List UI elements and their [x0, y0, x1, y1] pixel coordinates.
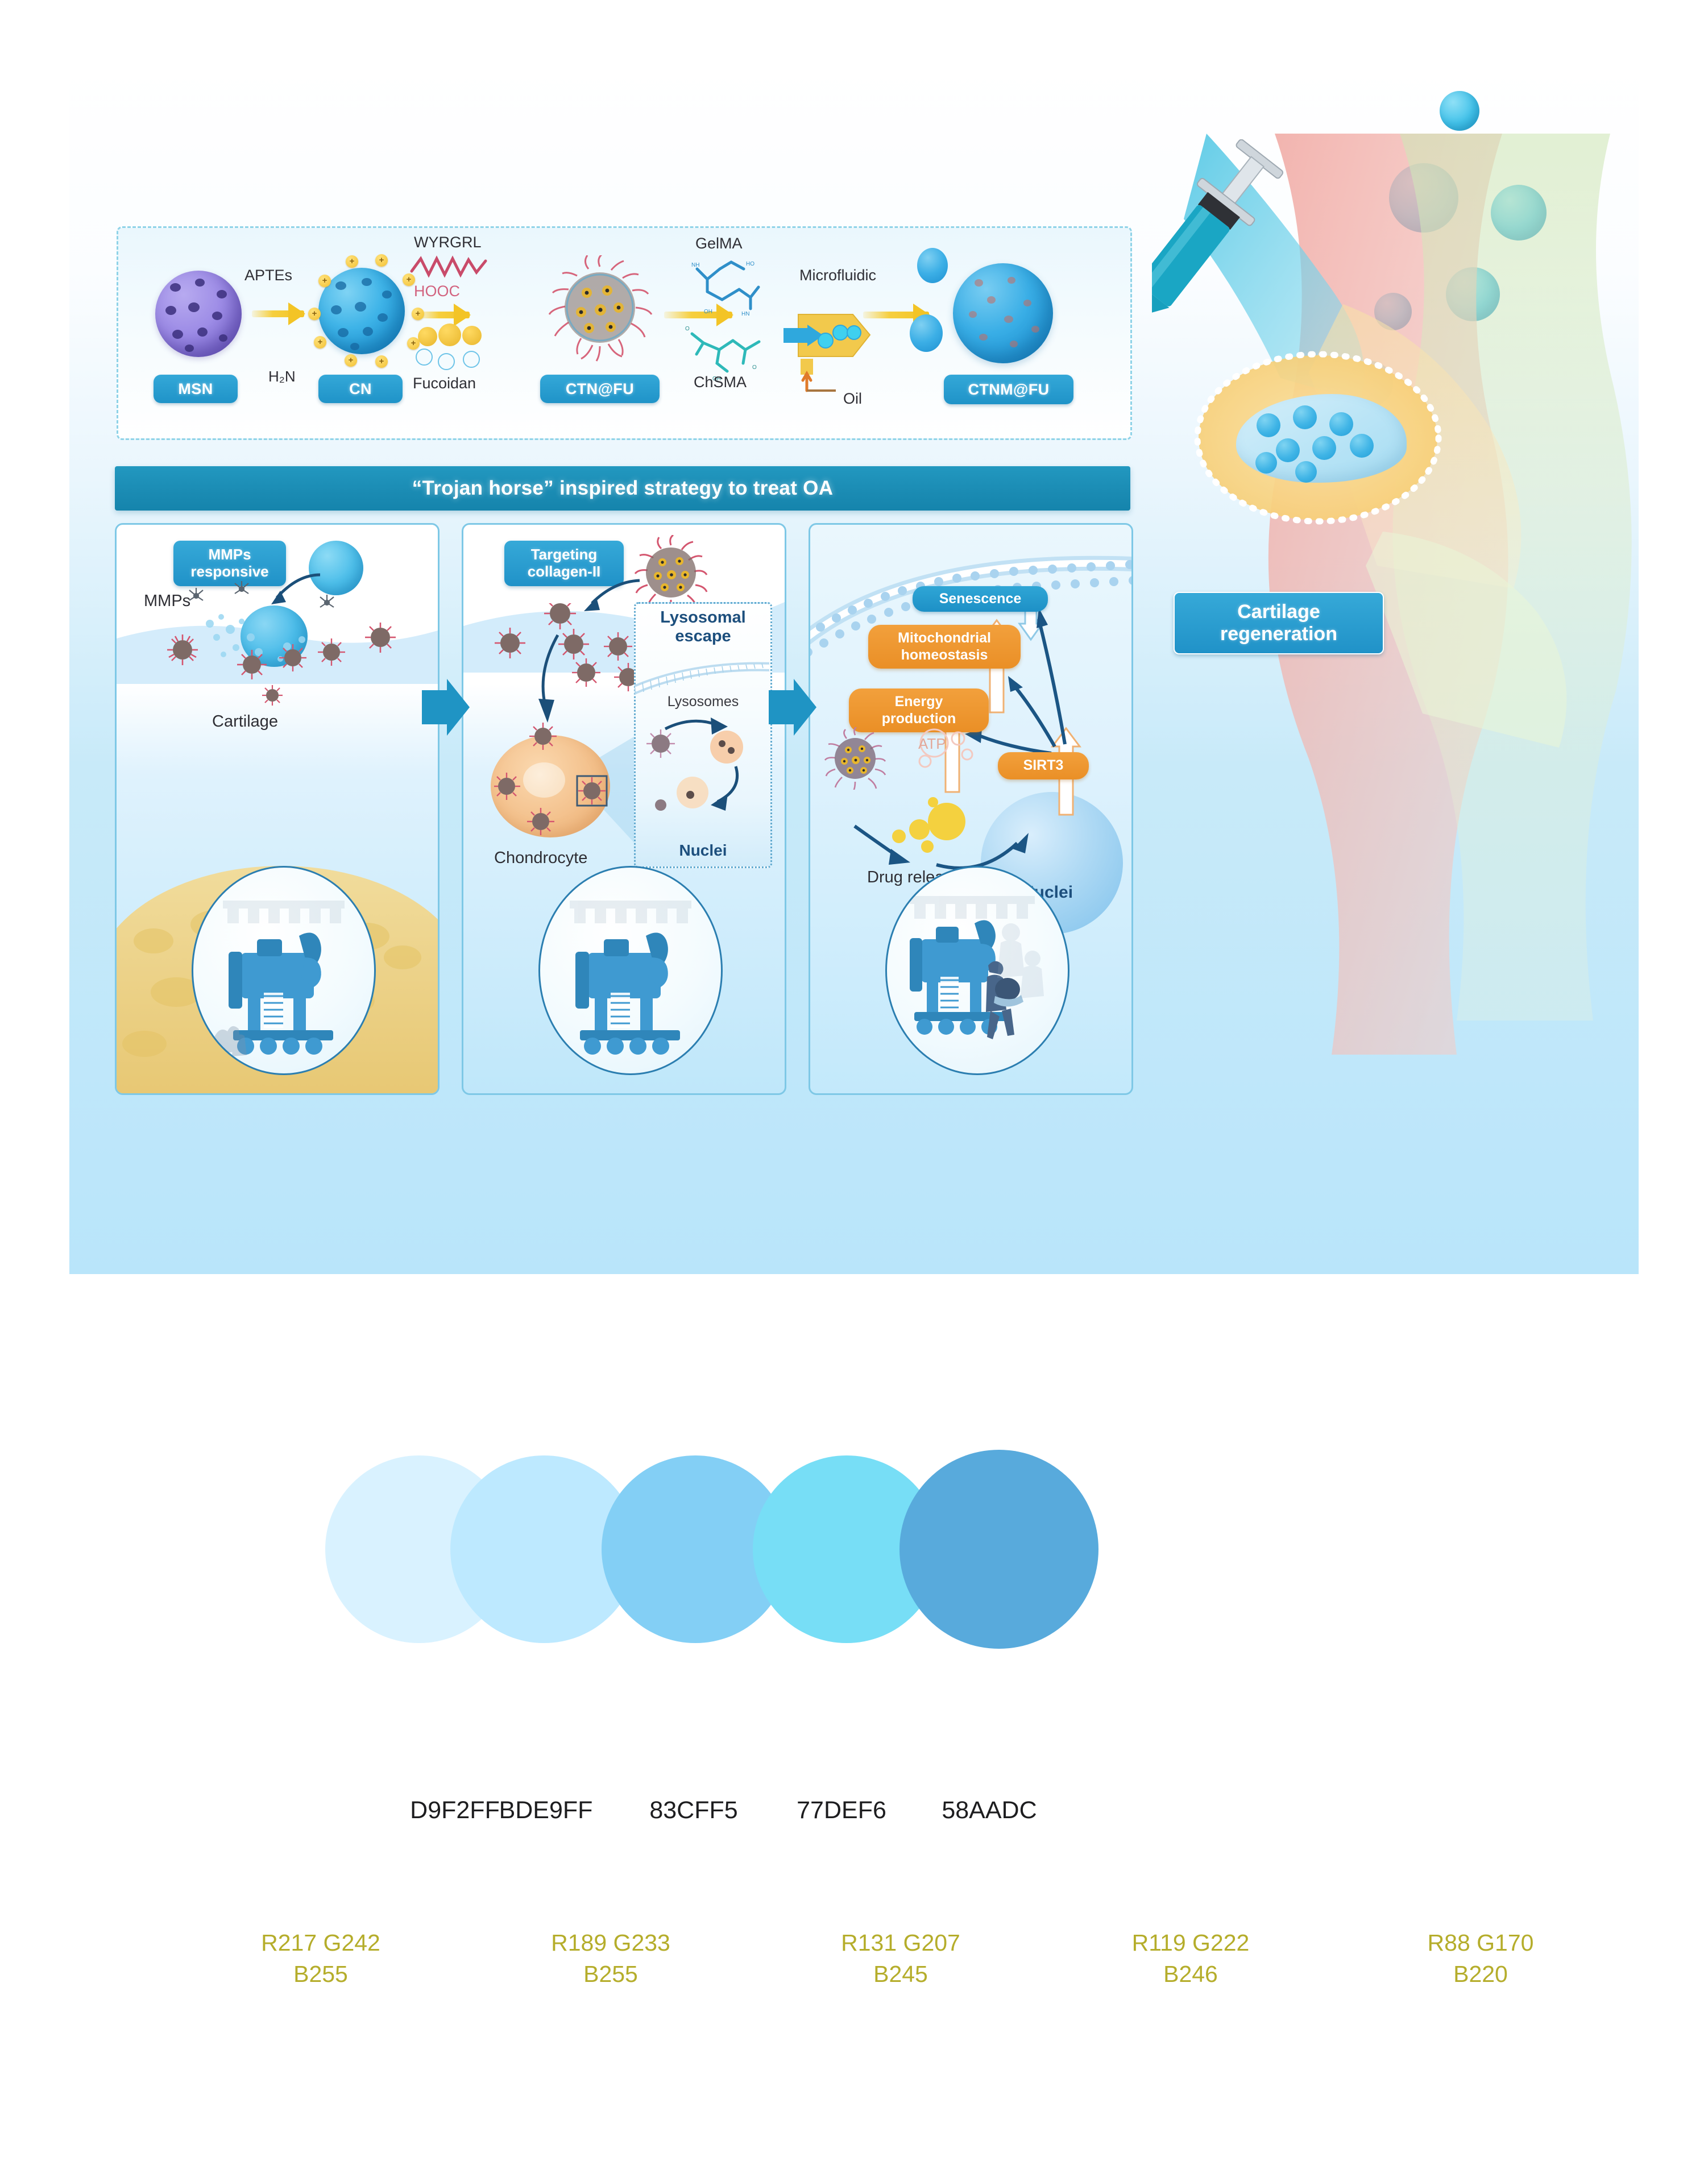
- lyso-title-line1: Lysosomal: [636, 608, 770, 627]
- svg-text:O: O: [685, 326, 690, 332]
- banner-title: “Trojan horse” inspired strategy to trea…: [412, 477, 834, 500]
- uptake-arrow: [526, 632, 583, 734]
- internalized-nanoparticles: [494, 719, 636, 850]
- svg-text:O: O: [752, 364, 757, 371]
- label-aptes: APTEs: [244, 267, 292, 284]
- gelma-molecule-icon: NH HO OH HN: [687, 256, 766, 319]
- label-fucoidan: Fucoidan: [413, 375, 476, 392]
- flow-arrow-2: [769, 677, 816, 738]
- label-lysosomes: Lysosomes: [636, 694, 770, 710]
- reaction-arrow-2: [418, 308, 470, 322]
- label-mmps: MMPs: [144, 592, 190, 611]
- label-nuclei-panel2: Nuclei: [636, 841, 770, 860]
- svg-text:OH: OH: [704, 309, 712, 315]
- panel-mmps-responsive: MMPs responsive MMPs: [115, 523, 440, 1095]
- microsphere: [1312, 436, 1336, 460]
- graphical-abstract-figure: MSN APTEs + + + + + + + + + +: [69, 65, 1639, 1274]
- ctnmfu-small-sphere: [910, 314, 943, 352]
- knee-injection-illustration: Cartilage regeneration: [1138, 134, 1639, 1214]
- product-label-ctnmfu: CTNM@FU: [944, 375, 1073, 404]
- ctnfu-nanoparticle-small: [824, 727, 886, 790]
- svg-text:NH: NH: [691, 262, 699, 268]
- microsphere: [1295, 461, 1317, 483]
- svg-text:HN: HN: [741, 311, 749, 317]
- drug-droplets-icon: [884, 792, 981, 855]
- microsphere: [1329, 412, 1353, 436]
- tag-senescence: Senescence: [913, 586, 1048, 612]
- synthesis-route-box: MSN APTEs + + + + + + + + + +: [117, 226, 1132, 440]
- label-chondrocyte: Chondrocyte: [494, 849, 587, 868]
- palette-hex-4: 58AADC: [898, 1797, 1080, 1824]
- svg-text:ATP: ATP: [918, 735, 946, 752]
- lysosomal-escape-box: Lysosomal escape Lysosomes: [634, 602, 772, 868]
- product-label-cn: CN: [318, 375, 403, 403]
- label-cartilage: Cartilage: [212, 712, 278, 731]
- panel-targeting-collagen: Targeting collagen-II: [462, 523, 786, 1095]
- label-chsma: ChSMA: [694, 374, 747, 391]
- palette-rgb-4: R88 G170B220: [1390, 1927, 1572, 1990]
- microsphere: [1440, 91, 1479, 131]
- palette-rgb-2: R131 G207B245: [810, 1927, 992, 1990]
- microsphere: [1255, 452, 1277, 474]
- svg-text:HO: HO: [746, 261, 754, 267]
- peptide-squiggle-icon: [409, 254, 489, 280]
- tag-mitochondrial-homeostasis: Mitochondrial homeostasis: [868, 625, 1021, 669]
- microsphere: [1293, 405, 1317, 429]
- lipid-bilayer-icon: [635, 658, 769, 698]
- cn-sphere-icon: [318, 268, 405, 354]
- label-microfluidic: Microfluidic: [799, 267, 876, 284]
- label-hooc: HOOC: [414, 283, 460, 300]
- label-h2n: H₂N: [268, 368, 296, 385]
- trojan-horse-icon: [540, 868, 721, 1073]
- trojan-horse-icon: [193, 868, 374, 1073]
- trojan-horse-circle-2: [538, 866, 723, 1075]
- color-palette-section: D9F2FF BDE9FF 83CFF5 77DEF6 58AADC R217 …: [0, 1455, 1708, 2081]
- label-wyrgrl: WYRGRL: [414, 234, 482, 251]
- lysosomal-escape-cycle: [645, 712, 764, 826]
- product-label-ctnfu: CTN@FU: [540, 375, 660, 403]
- tag-sirt3: SIRT3: [998, 752, 1089, 779]
- microsphere: [1257, 413, 1280, 437]
- microsphere: [1276, 438, 1300, 462]
- palette-swatch-4: [899, 1450, 1098, 1649]
- ctnfu-nanoparticle-icon: [546, 255, 654, 363]
- msn-sphere-icon: [155, 271, 242, 357]
- reaction-arrow-1: [252, 306, 304, 321]
- mmp-enzyme-icons: [185, 579, 372, 624]
- ctnmfu-small-sphere: [917, 248, 948, 283]
- label-oil: Oil: [843, 390, 862, 408]
- palette-rgb-3: R119 G222B246: [1100, 1927, 1282, 1990]
- atp-bubbles-icon: ATP: [911, 724, 991, 775]
- trojan-horse-circle-3: [885, 866, 1069, 1075]
- trojan-horse-circle-1: [192, 866, 376, 1075]
- released-nanoparticles: [162, 623, 418, 708]
- product-label-msn: MSN: [154, 375, 238, 403]
- panel-sirt3-pathway: Nuclei: [809, 523, 1133, 1095]
- palette-rgb-1: R189 G233B255: [520, 1927, 702, 1990]
- flow-arrow-1: [422, 677, 470, 738]
- ctnmfu-sphere-icon: [953, 263, 1053, 363]
- microsphere: [1350, 434, 1374, 458]
- trojan-horse-icon: [887, 868, 1068, 1073]
- strategy-banner: “Trojan horse” inspired strategy to trea…: [115, 466, 1130, 511]
- label-gelma: GelMA: [695, 235, 743, 252]
- tag-cartilage-regeneration: Cartilage regeneration: [1174, 592, 1384, 654]
- palette-rgb-0: R217 G242B255: [230, 1927, 412, 1990]
- lyso-title-line2: escape: [636, 627, 770, 646]
